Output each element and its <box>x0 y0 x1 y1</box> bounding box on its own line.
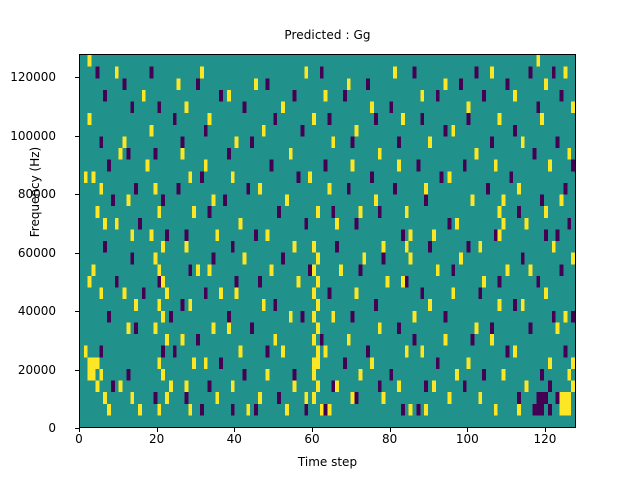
x-tick-mark <box>234 428 235 432</box>
x-tick-mark <box>157 428 158 432</box>
x-tick-mark <box>467 428 468 432</box>
y-tick-label: 40000 <box>0 304 56 318</box>
x-tick-mark <box>545 428 546 432</box>
x-tick-label: 0 <box>49 432 109 446</box>
heatmap-canvas <box>80 55 575 427</box>
x-tick-label: 20 <box>127 432 187 446</box>
page-title: Predicted : Gg <box>79 28 576 42</box>
x-tick-label: 40 <box>204 432 264 446</box>
y-tick-label: 60000 <box>0 246 56 260</box>
x-tick-mark <box>390 428 391 432</box>
x-tick-label: 120 <box>515 432 575 446</box>
y-tick-label: 80000 <box>0 187 56 201</box>
x-tick-mark <box>312 428 313 432</box>
x-axis-label: Time step <box>79 455 576 469</box>
x-tick-label: 60 <box>282 432 342 446</box>
heatmap-plot-area <box>79 54 576 428</box>
matplotlib-figure: Predicted : Gg Frequency (Hz) 0200004000… <box>0 0 640 480</box>
y-tick-label: 120000 <box>0 70 56 84</box>
x-tick-label: 100 <box>437 432 497 446</box>
y-tick-label: 20000 <box>0 363 56 377</box>
y-tick-label: 0 <box>0 421 56 435</box>
x-tick-label: 80 <box>360 432 420 446</box>
x-tick-mark <box>79 428 80 432</box>
y-tick-label: 100000 <box>0 129 56 143</box>
